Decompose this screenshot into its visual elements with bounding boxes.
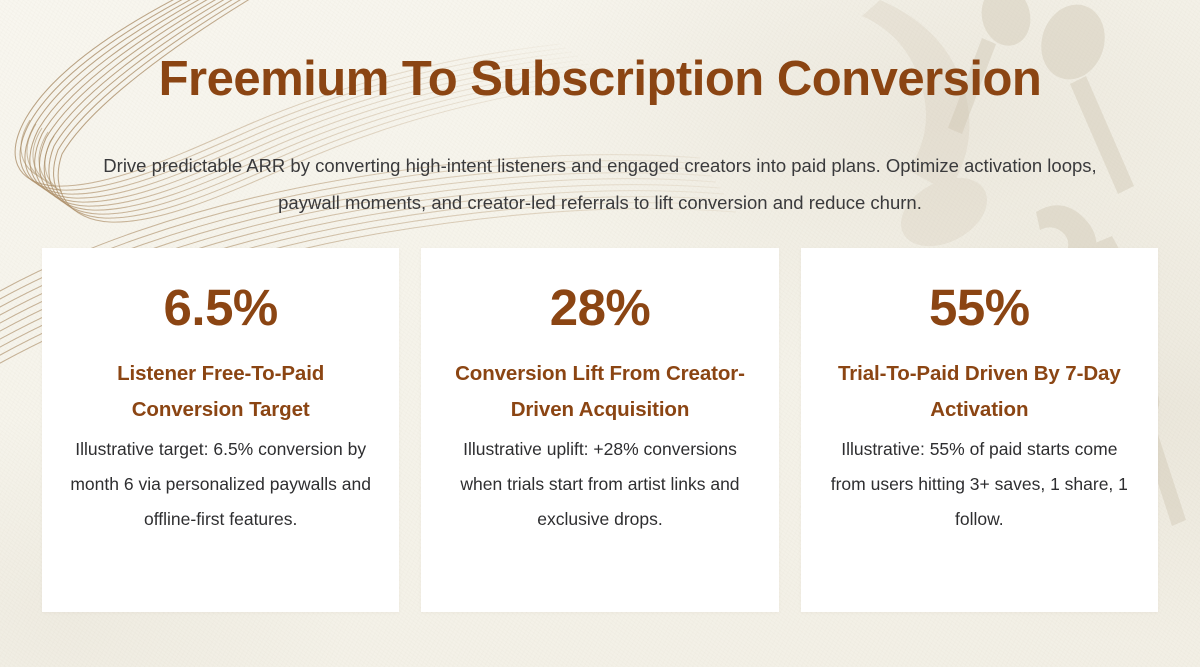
- stat-heading: Trial-To-Paid Driven By 7-Day Activation: [823, 356, 1136, 428]
- stat-value: 28%: [443, 281, 756, 334]
- page-title: Freemium To Subscription Conversion: [0, 52, 1200, 107]
- stat-heading: Conversion Lift From Creator-Driven Acqu…: [443, 356, 756, 428]
- stat-value: 55%: [823, 281, 1136, 334]
- stat-card: 28% Conversion Lift From Creator-Driven …: [421, 248, 778, 612]
- stat-description: Illustrative uplift: +28% conversions wh…: [443, 432, 756, 537]
- stat-heading: Listener Free-To-Paid Conversion Target: [64, 356, 377, 428]
- stat-description: Illustrative target: 6.5% conversion by …: [64, 432, 377, 537]
- stat-cards-row: 6.5% Listener Free-To-Paid Conversion Ta…: [42, 248, 1158, 612]
- page-subtitle: Drive predictable ARR by converting high…: [85, 147, 1115, 221]
- stat-card: 6.5% Listener Free-To-Paid Conversion Ta…: [42, 248, 399, 612]
- stat-description: Illustrative: 55% of paid starts come fr…: [823, 432, 1136, 537]
- stat-value: 6.5%: [64, 281, 377, 334]
- stat-card: 55% Trial-To-Paid Driven By 7-Day Activa…: [801, 248, 1158, 612]
